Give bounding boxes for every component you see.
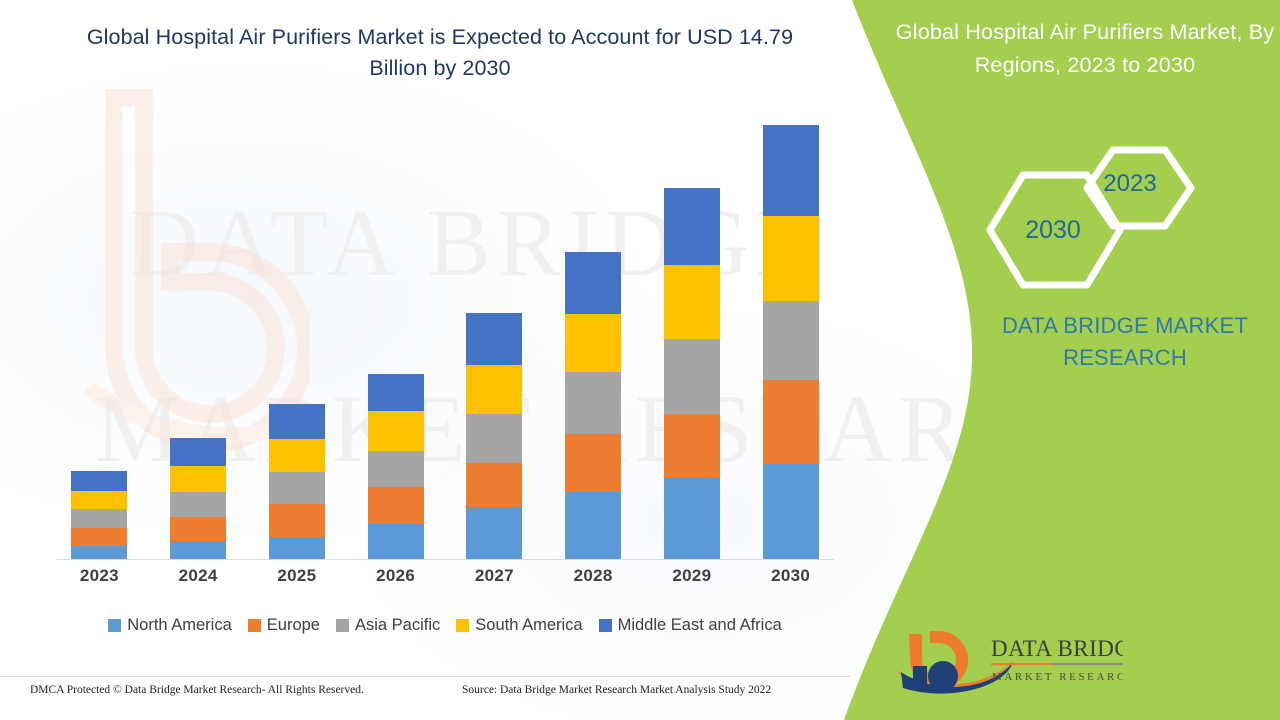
bar-segment[interactable] (269, 404, 325, 439)
x-axis-label-2026: 2026 (346, 566, 445, 586)
x-axis-label-2028: 2028 (544, 566, 643, 586)
stacked-bar-2025[interactable] (269, 404, 325, 559)
logo-tagline-text: MARKET RESEARCH (992, 671, 1123, 683)
legend-item[interactable]: North America (108, 616, 232, 635)
stacked-bar-2029[interactable] (664, 188, 720, 559)
x-axis-label-2024: 2024 (149, 566, 248, 586)
logo-divider-gray (1053, 663, 1123, 665)
bar-segment[interactable] (368, 451, 424, 487)
panel-brand-line-2: RESEARCH (960, 342, 1280, 374)
bar-segment[interactable] (565, 252, 621, 314)
bar-segment[interactable] (170, 492, 226, 518)
stacked-bar-2027[interactable] (466, 313, 522, 559)
x-axis-label-2029: 2029 (643, 566, 742, 586)
chart-x-axis-labels: 20232024202520262027202820292030 (50, 566, 840, 586)
stacked-bar-2024[interactable] (170, 438, 226, 559)
bar-segment[interactable] (269, 472, 325, 505)
legend-swatch-icon (599, 619, 612, 632)
chart-axis-line (56, 559, 834, 560)
panel-title: Global Hospital Air Purifiers Market, By… (890, 16, 1280, 82)
bar-segment[interactable] (170, 466, 226, 492)
bar-segment[interactable] (269, 537, 325, 559)
legend-swatch-icon (456, 619, 469, 632)
bar-segment[interactable] (368, 374, 424, 411)
legend-swatch-icon (248, 619, 261, 632)
x-axis-label-2027: 2027 (445, 566, 544, 586)
stacked-bar-2023[interactable] (71, 471, 127, 559)
bar-segment[interactable] (664, 188, 720, 265)
legend-item[interactable]: Europe (248, 616, 320, 635)
source-note: Source: Data Bridge Market Research Mark… (462, 684, 771, 696)
legend-item[interactable]: South America (456, 616, 582, 635)
bar-segment[interactable] (170, 438, 226, 466)
chart-plot-area (50, 120, 840, 559)
bar-segment[interactable] (466, 463, 522, 507)
bar-segment[interactable] (466, 507, 522, 559)
logo-divider-orange (991, 663, 1053, 665)
bar-segment[interactable] (565, 314, 621, 372)
stacked-bar-2028[interactable] (565, 252, 621, 559)
bar-segment[interactable] (466, 313, 522, 365)
bar-segment[interactable] (466, 365, 522, 414)
bar-segment[interactable] (71, 471, 127, 491)
bar-segment[interactable] (71, 528, 127, 546)
infographic-root: DATA BRIDGE MARKET RESEARCH Global Hospi… (0, 0, 1280, 720)
data-bridge-logo: DATA BRIDGE MARKET RESEARCH (893, 630, 1123, 694)
bar-segment[interactable] (368, 411, 424, 451)
page-title: Global Hospital Air Purifiers Market is … (60, 22, 820, 84)
bar-column (544, 120, 643, 559)
legend-item[interactable]: Asia Pacific (336, 616, 440, 635)
legend-item[interactable]: Middle East and Africa (599, 616, 782, 635)
x-axis-label-2023: 2023 (50, 566, 149, 586)
legend-label: South America (475, 616, 582, 635)
legend-swatch-icon (108, 619, 121, 632)
bar-segment[interactable] (71, 509, 127, 527)
bar-segment[interactable] (170, 517, 226, 541)
hexagon-2030-label: 2030 (1012, 216, 1094, 245)
stacked-bar-2026[interactable] (368, 374, 424, 559)
bar-segment[interactable] (565, 492, 621, 559)
bar-column (50, 120, 149, 559)
legend-label: Middle East and Africa (618, 616, 782, 635)
legend-swatch-icon (336, 619, 349, 632)
bar-segment[interactable] (269, 504, 325, 537)
bar-segment[interactable] (368, 487, 424, 524)
bar-segment[interactable] (664, 414, 720, 478)
legend-label: Europe (267, 616, 320, 635)
stacked-bar-chart (50, 120, 840, 560)
x-axis-label-2025: 2025 (248, 566, 347, 586)
bar-column (248, 120, 347, 559)
bar-segment[interactable] (170, 542, 226, 559)
bar-segment[interactable] (565, 434, 621, 492)
footer-divider (0, 676, 850, 677)
legend-label: Asia Pacific (355, 616, 440, 635)
bar-segment[interactable] (664, 339, 720, 414)
bar-column (149, 120, 248, 559)
bar-segment[interactable] (466, 414, 522, 463)
legend-label: North America (127, 616, 232, 635)
chart-legend: North AmericaEuropeAsia PacificSouth Ame… (50, 616, 840, 635)
bar-segment[interactable] (71, 546, 127, 559)
bar-segment[interactable] (664, 265, 720, 339)
hexagon-2023-label: 2023 (1090, 170, 1170, 198)
logo-name-text: DATA BRIDGE (991, 636, 1123, 661)
bar-segment[interactable] (269, 439, 325, 472)
bar-segment[interactable] (565, 372, 621, 433)
bar-column (346, 120, 445, 559)
panel-brand-name: DATA BRIDGE MARKET RESEARCH (960, 310, 1280, 374)
bar-segment[interactable] (368, 524, 424, 559)
bar-segment[interactable] (664, 478, 720, 559)
dmca-notice: DMCA Protected © Data Bridge Market Rese… (30, 684, 364, 696)
bar-segment[interactable] (71, 491, 127, 509)
panel-brand-line-1: DATA BRIDGE MARKET (960, 310, 1280, 342)
bar-column (643, 120, 742, 559)
bar-column (445, 120, 544, 559)
